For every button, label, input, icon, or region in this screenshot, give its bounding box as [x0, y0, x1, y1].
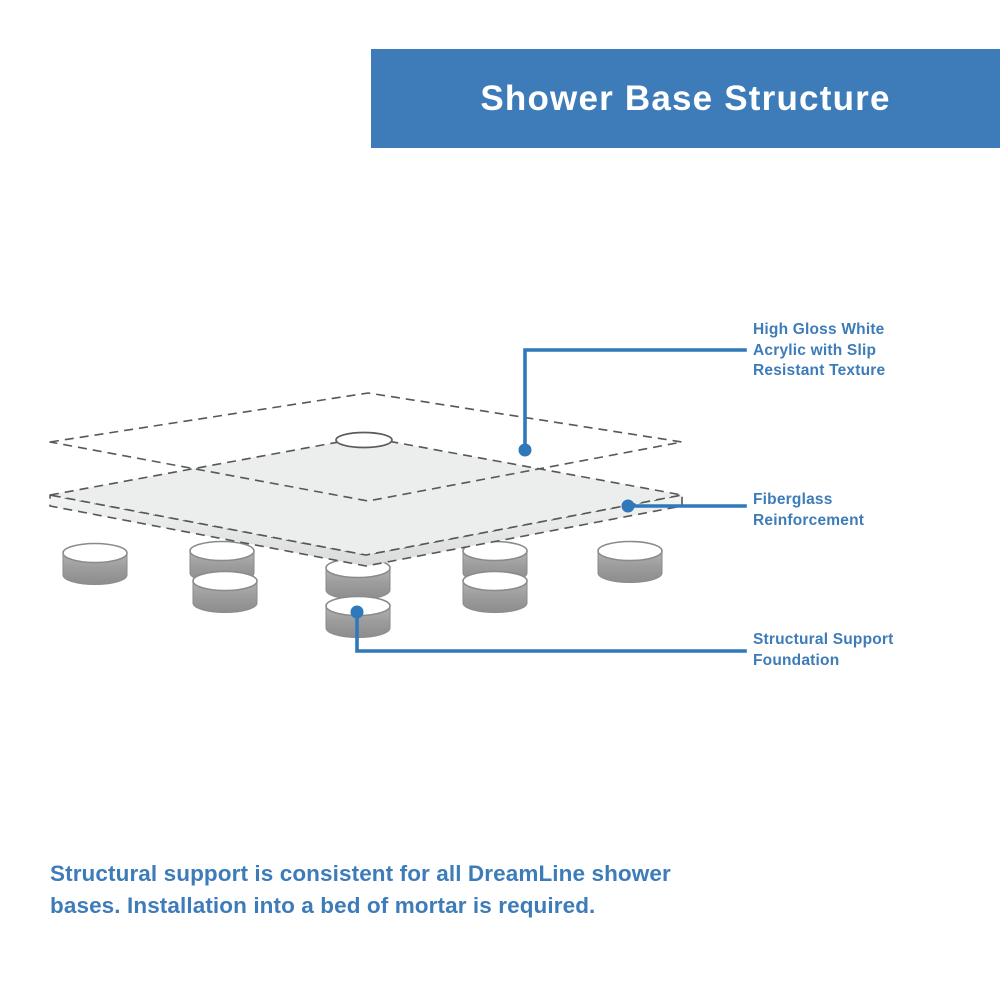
support-ring: [193, 572, 257, 613]
support-ring: [63, 544, 127, 585]
acrylic-top-layer: [50, 393, 682, 501]
support-ring: [463, 572, 527, 613]
drain-opening: [336, 433, 392, 448]
header-banner: Shower Base Structure: [371, 49, 1000, 148]
callout-label-support: Structural Support Foundation: [753, 630, 993, 671]
callout-label-fiberglass: Fiberglass Reinforcement: [753, 490, 993, 531]
support-ring: [326, 597, 390, 638]
fiberglass-slab-layer: [50, 437, 682, 566]
support-ring: [598, 542, 662, 583]
callout-leader-support: [351, 606, 746, 652]
support-ring: [190, 542, 254, 583]
callout-leader-fiberglass: [622, 500, 746, 513]
callout-leader-acrylic: [519, 350, 746, 457]
footer-caption: Structural support is consistent for all…: [50, 858, 690, 923]
callout-label-acrylic: High Gloss White Acrylic with Slip Resis…: [753, 320, 993, 382]
support-ring: [326, 559, 390, 600]
page-root: Shower Base Structure: [0, 0, 1000, 1000]
support-ring-group: [63, 542, 662, 638]
support-ring: [463, 542, 527, 583]
page-title: Shower Base Structure: [480, 79, 890, 119]
callout-leaders: [351, 350, 746, 651]
